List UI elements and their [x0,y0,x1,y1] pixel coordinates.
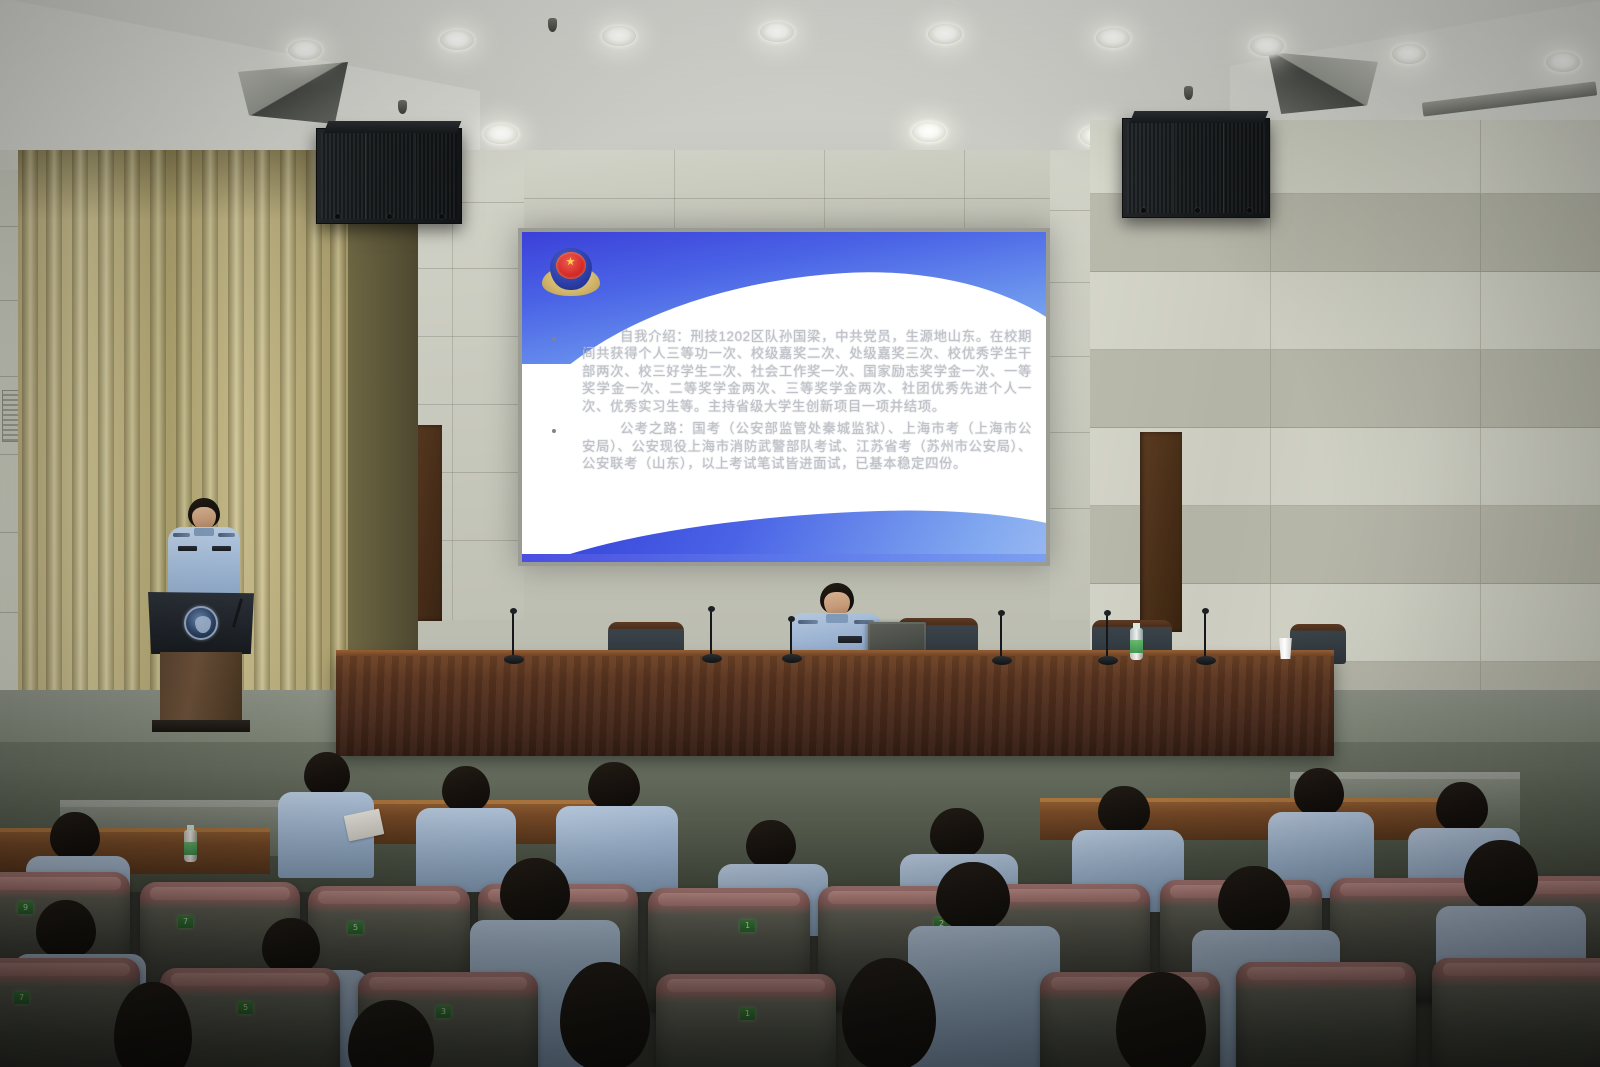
podium-base [160,652,242,726]
audience-head [1218,866,1290,934]
audience-head [1294,768,1344,816]
ceiling-downlight [440,30,474,50]
projection-screen-frame: 自我介绍：刑技1202区队孙国梁，中共党员，生源地山东。在校期间共获得个人三等功… [518,228,1050,566]
audience-head [304,752,350,796]
chinese-police-emblem-icon [542,244,600,300]
slide-content: 自我介绍：刑技1202区队孙国梁，中共党员，生源地山东。在校期间共获得个人三等功… [544,328,1032,477]
table-microphone [512,612,514,657]
audience-head [560,962,650,1067]
fire-sprinkler [548,18,557,32]
audience-head [114,982,192,1067]
bullet-point-icon [552,429,556,433]
audience-head [262,918,320,974]
fire-sprinkler [1184,86,1193,100]
ceiling-air-vent-right [1268,52,1378,114]
ceiling-downlight [928,24,962,44]
presenter-collar [194,528,214,536]
audience-head [1098,786,1150,834]
projection-screen: 自我介绍：刑技1202区队孙国梁，中共党员，生源地山东。在校期间共获得个人三等功… [522,232,1046,562]
audience-head [930,808,984,858]
water-bottle [184,830,197,862]
audience-head [588,762,640,810]
police-academy-seal-icon [184,606,218,640]
table-microphone [790,620,792,656]
audience-head [500,858,570,924]
ceiling-downlight [484,124,518,144]
seat-number-badge: 1 [740,920,755,932]
head-table [336,656,1334,756]
ceiling-air-vent-left [238,62,348,124]
seat-number-badge: 7 [178,916,193,928]
audience-member-closest [540,962,700,1067]
slide-bullet-text: 自我介绍：刑技1202区队孙国梁，中共党员，生源地山东。在校期间共获得个人三等功… [582,328,1032,415]
slide-footer-bar [522,554,1046,562]
audience-head [842,958,936,1067]
ceiling-downlight [1392,44,1426,64]
seated-presenter-collar [826,614,848,623]
audience-head [442,766,490,812]
ceiling-downlight [1096,28,1130,48]
ceiling-downlight [1250,36,1284,56]
presenter-uniform-shirt [168,527,240,595]
ceiling-downlight [1546,52,1580,72]
seated-presenter-name-badge [838,636,862,643]
ceiling-downlight [288,40,322,60]
audience-member-closest [98,982,248,1067]
slide-bullet-text: 公考之路：国考（公安部监管处秦城监狱）、上海市考（上海市公安局）、公安现役上海市… [582,420,1032,472]
audience-member-closest [1096,972,1256,1067]
audience-head [36,900,96,958]
auditorium-seat[interactable] [1236,962,1416,1067]
table-microphone [1000,614,1002,658]
seat-number-badge: 1 [740,1008,755,1020]
audience-head [50,812,100,860]
table-microphone [710,610,712,656]
audience-member-closest [820,958,988,1067]
audience-head [1436,782,1488,832]
presenter-name-badge [212,546,231,551]
presenter-shoulder-board [218,533,235,537]
seat-number-badge: 7 [14,992,29,1004]
audience-head [348,1000,434,1067]
speaker-podium [148,592,254,724]
ceiling-downlight [912,122,946,142]
table-microphone [1204,612,1206,658]
presenter-shoulder-board [173,533,190,537]
bullet-point-icon [552,337,556,341]
audience-head [1116,972,1206,1067]
audience-head [1464,840,1538,910]
audience-member-closest [330,1000,480,1067]
slide-bullet: 自我介绍：刑技1202区队孙国梁，中共党员，生源地山东。在校期间共获得个人三等功… [544,328,1032,415]
ceiling-downlight [602,26,636,46]
slide-bullet: 公考之路：国考（公安部监管处秦城监狱）、上海市考（上海市公安局）、公安现役上海市… [544,420,1032,472]
door-niche-right [1140,432,1182,632]
upper-wall-panels-center [524,150,1050,234]
ceiling-downlight [760,22,794,42]
presenter-name-badge [178,546,197,551]
hanging-speaker-left [316,128,462,224]
seated-presenter-shoulder-board [798,620,818,624]
water-bottle [1130,628,1143,660]
audience-head [936,862,1010,930]
fire-sprinkler [398,100,407,114]
auditorium-scene: 自我介绍：刑技1202区队孙国梁，中共党员，生源地山东。在校期间共获得个人三等功… [0,0,1600,1067]
auditorium-seat[interactable] [1432,958,1600,1067]
table-microphone [1106,614,1108,658]
podium-foot [152,720,250,732]
audience-head [746,820,796,868]
hanging-speaker-right [1122,118,1270,218]
